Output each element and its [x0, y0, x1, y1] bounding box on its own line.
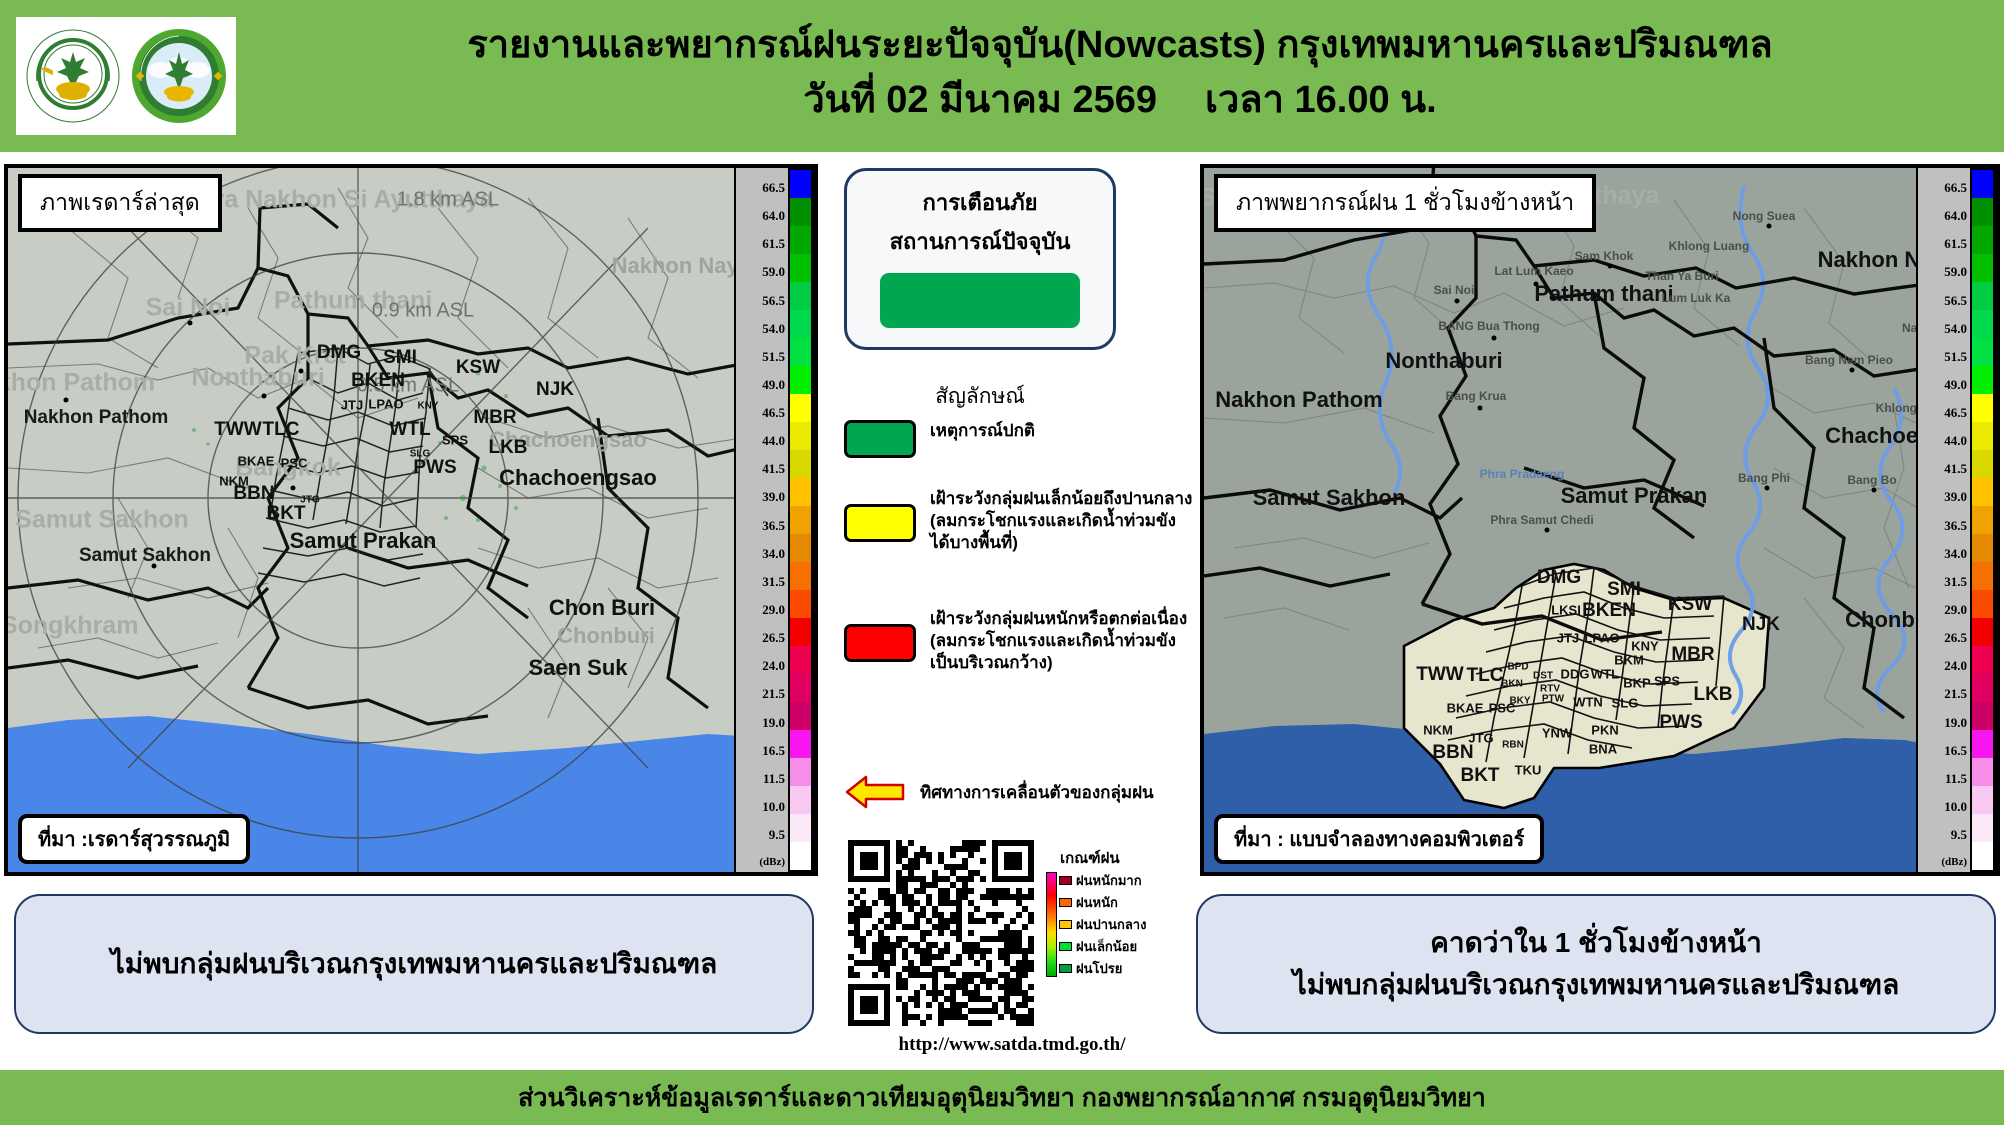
- colorbar-tick: 34.0: [1944, 546, 1967, 562]
- colorbar-tick: 16.5: [1944, 743, 1967, 759]
- colorbar-tick: 24.0: [1944, 658, 1967, 674]
- colorbar-tick: 16.5: [762, 743, 785, 759]
- radar-colorbar-strip: [788, 168, 814, 872]
- rain-scale-label: ฝนเล็กน้อย: [1076, 940, 1137, 953]
- radar-map-graphics: [8, 168, 818, 872]
- colorbar-segment: [1972, 170, 1993, 198]
- footer-text: ส่วนวิเคราะห์ข้อมูลเรดาร์และดาวเทียมอุตุ…: [518, 1078, 1486, 1118]
- legend-label-moderate: เฝ้าระวังกลุ่มฝนเล็กน้อยถึงปานกลาง (ลมกร…: [930, 488, 1192, 553]
- forecast-panel-source: ที่มา : แบบจำลองทางคอมพิวเตอร์: [1214, 814, 1544, 864]
- colorbar-tick: 39.0: [762, 489, 785, 505]
- colorbar-unit: (dBz): [1941, 856, 1967, 868]
- colorbar-tick: 26.5: [762, 630, 785, 646]
- legend-item-direction: ทิศทางการเคลื่อนตัวของกลุ่มฝน: [844, 774, 1154, 810]
- colorbar-tick: 64.0: [1944, 208, 1967, 224]
- colorbar-tick: 66.5: [1944, 180, 1967, 196]
- colorbar-segment: [790, 730, 811, 758]
- colorbar-tick: 56.5: [1944, 293, 1967, 309]
- colorbar-tick: 61.5: [762, 236, 785, 252]
- legend-label-direction: ทิศทางการเคลื่อนตัวของกลุ่มฝน: [920, 779, 1154, 806]
- colorbar-segment: [1972, 226, 1993, 254]
- colorbar-segment: [790, 814, 811, 842]
- colorbar-tick: 19.0: [762, 715, 785, 731]
- colorbar-segment: [1972, 814, 1993, 842]
- legend-swatch-green: [844, 420, 916, 458]
- colorbar-segment: [790, 254, 811, 282]
- rain-scale-label: ฝนหนัก: [1076, 896, 1118, 909]
- radar-colorbar-labels: 66.564.061.559.056.554.051.549.046.544.0…: [736, 168, 788, 872]
- colorbar-tick: 41.5: [762, 461, 785, 477]
- colorbar-segment: [790, 450, 811, 478]
- colorbar-unit: (dBz): [759, 856, 785, 868]
- rain-scale-chip: [1059, 942, 1072, 951]
- left-arrow-icon: [844, 774, 906, 810]
- rain-scale-item: ฝนเล็กน้อย: [1059, 940, 1146, 953]
- colorbar-segment: [790, 282, 811, 310]
- forecast-colorbar-strip: [1970, 168, 1996, 872]
- colorbar-tick: 31.5: [1944, 574, 1967, 590]
- colorbar-tick: 64.0: [762, 208, 785, 224]
- colorbar-tick: 26.5: [1944, 630, 1967, 646]
- colorbar-tick: 41.5: [1944, 461, 1967, 477]
- thai-meteorological-department-seal: [129, 26, 229, 126]
- colorbar-tick: 54.0: [762, 321, 785, 337]
- colorbar-segment: [1972, 450, 1993, 478]
- colorbar-tick: 10.0: [762, 799, 785, 815]
- colorbar-tick: 49.0: [1944, 377, 1967, 393]
- colorbar-segment: [790, 646, 811, 674]
- colorbar-tick: 46.5: [762, 405, 785, 421]
- colorbar-segment: [1972, 506, 1993, 534]
- colorbar-tick: 56.5: [762, 293, 785, 309]
- colorbar-segment: [1972, 562, 1993, 590]
- colorbar-segment: [790, 198, 811, 226]
- rain-scale-title: เกณฑ์ฝน: [1060, 846, 1186, 870]
- colorbar-segment: [1972, 702, 1993, 730]
- colorbar-tick: 21.5: [762, 686, 785, 702]
- radar-panel-source: ที่มา :เรดาร์สุวรรณภูมิ: [18, 814, 250, 864]
- colorbar-tick: 44.0: [762, 433, 785, 449]
- warning-status-indicator: [880, 273, 1080, 328]
- rain-scale-chip: [1059, 898, 1072, 907]
- legend-label-heavy: เฝ้าระวังกลุ่มฝนหนักหรือตกต่อเนื่อง (ลมก…: [930, 608, 1187, 673]
- colorbar-tick: 19.0: [1944, 715, 1967, 731]
- warning-status-card: การเตือนภัย สถานการณ์ปัจจุบัน: [844, 168, 1116, 350]
- colorbar-tick: 10.0: [1944, 799, 1967, 815]
- forecast-map-canvas[interactable]: Suphan Buri Phra Nakhon Si Ayutthaya Non…: [1204, 168, 1996, 872]
- colorbar-segment: [790, 422, 811, 450]
- colorbar-tick: 9.5: [769, 827, 785, 843]
- colorbar-tick: 11.5: [1945, 771, 1967, 787]
- current-summary-box: ไม่พบกลุ่มฝนบริเวณกรุงเทพมหานครและปริมณฑ…: [14, 894, 814, 1034]
- rain-scale-label: ฝนโปรย: [1076, 962, 1122, 975]
- rain-scale-label: ฝนหนักมาก: [1076, 874, 1142, 887]
- forecast-summary-line2: ไม่พบกลุ่มฝนบริเวณกรุงเทพมหานครและปริมณฑ…: [1293, 964, 1900, 1006]
- colorbar-tick: 59.0: [762, 264, 785, 280]
- colorbar-tick: 39.0: [1944, 489, 1967, 505]
- legend-item-normal: เหตุการณ์ปกติ: [844, 420, 1035, 458]
- colorbar-segment: [1972, 674, 1993, 702]
- colorbar-tick: 59.0: [1944, 264, 1967, 280]
- colorbar-tick: 21.5: [1944, 686, 1967, 702]
- colorbar-tick: 51.5: [762, 349, 785, 365]
- colorbar-segment: [1972, 310, 1993, 338]
- colorbar-segment: [790, 758, 811, 786]
- rain-scale-chip: [1059, 920, 1072, 929]
- radar-map-canvas[interactable]: Suphan Buri Phra Nakhon Si Ayutthaya Nak…: [8, 168, 814, 872]
- colorbar-segment: [790, 618, 811, 646]
- colorbar-segment: [1972, 198, 1993, 226]
- colorbar-segment: [790, 674, 811, 702]
- colorbar-tick: 29.0: [1944, 602, 1967, 618]
- warning-title-line2: สถานการณ์ปัจจุบัน: [847, 224, 1113, 259]
- legend-label-normal: เหตุการณ์ปกติ: [930, 420, 1035, 442]
- rain-scale-chip: [1059, 964, 1072, 973]
- rain-scale-item: ฝนโปรย: [1059, 962, 1146, 975]
- current-summary-text: ไม่พบกลุ่มฝนบริเวณกรุงเทพมหานครและปริมณฑ…: [111, 943, 718, 985]
- website-url[interactable]: http://www.satda.tmd.go.th/: [840, 1034, 1184, 1056]
- royal-irrigation-seal: [23, 26, 123, 126]
- legend-column: การเตือนภัย สถานการณ์ปัจจุบัน สัญลักษณ์ …: [830, 152, 1194, 1070]
- colorbar-segment: [1972, 646, 1993, 674]
- colorbar-tick: 36.5: [762, 518, 785, 534]
- colorbar-tick: 66.5: [762, 180, 785, 196]
- colorbar-segment: [1972, 842, 1993, 870]
- forecast-map-graphics: [1204, 168, 2000, 872]
- qr-block: เกณฑ์ฝน ฝนหนักมากฝนหนักฝนปานกลางฝนเล็กน้…: [848, 840, 1178, 1026]
- qr-code[interactable]: [848, 840, 1034, 1026]
- logo-box: [16, 17, 236, 135]
- warning-title-line1: การเตือนภัย: [847, 185, 1113, 220]
- colorbar-segment: [790, 842, 811, 870]
- page-header: รายงานและพยากรณ์ฝนระยะปัจจุบัน(Nowcasts)…: [0, 0, 2004, 152]
- report-time: เวลา 16.00 น.: [1205, 79, 1437, 121]
- colorbar-segment: [790, 562, 811, 590]
- colorbar-tick: 9.5: [1951, 827, 1967, 843]
- rain-scale-item: ฝนหนักมาก: [1059, 874, 1146, 887]
- colorbar-segment: [790, 534, 811, 562]
- colorbar-segment: [790, 394, 811, 422]
- colorbar-tick: 31.5: [762, 574, 785, 590]
- colorbar-segment: [1972, 254, 1993, 282]
- legend-swatch-yellow: [844, 504, 916, 542]
- colorbar-segment: [1972, 422, 1993, 450]
- forecast-colorbar-labels: 66.564.061.559.056.554.051.549.046.544.0…: [1918, 168, 1970, 872]
- forecast-dbz-colorbar: 66.564.061.559.056.554.051.549.046.544.0…: [1916, 168, 1996, 872]
- colorbar-segment: [1972, 590, 1993, 618]
- colorbar-tick: 29.0: [762, 602, 785, 618]
- forecast-summary-box: คาดว่าใน 1 ชั่วโมงข้างหน้า ไม่พบกลุ่มฝนบ…: [1196, 894, 1996, 1034]
- rain-scale-label: ฝนปานกลาง: [1076, 918, 1146, 931]
- forecast-summary-line1: คาดว่าใน 1 ชั่วโมงข้างหน้า: [1430, 922, 1762, 964]
- colorbar-segment: [790, 478, 811, 506]
- colorbar-segment: [1972, 534, 1993, 562]
- colorbar-segment: [1972, 478, 1993, 506]
- colorbar-segment: [790, 338, 811, 366]
- forecast-panel-caption: ภาพพยากรณ์ฝน 1 ชั่วโมงข้างหน้า: [1214, 174, 1596, 232]
- colorbar-tick: 36.5: [1944, 518, 1967, 534]
- main-content: Suphan Buri Phra Nakhon Si Ayutthaya Nak…: [0, 152, 2004, 1070]
- colorbar-tick: 24.0: [762, 658, 785, 674]
- colorbar-segment: [1972, 366, 1993, 394]
- rain-scale-items: ฝนหนักมากฝนหนักฝนปานกลางฝนเล็กน้อยฝนโปรย: [1059, 872, 1146, 977]
- colorbar-segment: [790, 506, 811, 534]
- colorbar-segment: [790, 702, 811, 730]
- colorbar-segment: [790, 226, 811, 254]
- colorbar-segment: [790, 366, 811, 394]
- colorbar-segment: [1972, 394, 1993, 422]
- colorbar-tick: 44.0: [1944, 433, 1967, 449]
- report-date: วันที่ 02 มีนาคม 2569: [803, 79, 1157, 121]
- rain-scale-gradient-bar: [1046, 872, 1057, 977]
- colorbar-segment: [1972, 730, 1993, 758]
- colorbar-segment: [1972, 618, 1993, 646]
- colorbar-tick: 11.5: [763, 771, 785, 787]
- colorbar-segment: [790, 590, 811, 618]
- colorbar-tick: 49.0: [762, 377, 785, 393]
- legend-item-heavy: เฝ้าระวังกลุ่มฝนหนักหรือตกต่อเนื่อง (ลมก…: [844, 624, 1187, 673]
- colorbar-segment: [790, 786, 811, 814]
- colorbar-segment: [1972, 338, 1993, 366]
- colorbar-segment: [1972, 758, 1993, 786]
- page-footer: ส่วนวิเคราะห์ข้อมูลเรดาร์และดาวเทียมอุตุ…: [0, 1070, 2004, 1125]
- radar-dbz-colorbar: 66.564.061.559.056.554.051.549.046.544.0…: [734, 168, 814, 872]
- colorbar-tick: 46.5: [1944, 405, 1967, 421]
- colorbar-segment: [790, 170, 811, 198]
- colorbar-tick: 54.0: [1944, 321, 1967, 337]
- forecast-map-panel[interactable]: Suphan Buri Phra Nakhon Si Ayutthaya Non…: [1200, 164, 2000, 876]
- report-datetime: วันที่ 02 มีนาคม 2569เวลา 16.00 น.: [250, 76, 1990, 125]
- colorbar-segment: [790, 310, 811, 338]
- page-title: รายงานและพยากรณ์ฝนระยะปัจจุบัน(Nowcasts)…: [250, 22, 1990, 70]
- radar-map-panel[interactable]: Suphan Buri Phra Nakhon Si Ayutthaya Nak…: [4, 164, 818, 876]
- radar-panel-caption: ภาพเรดาร์ล่าสุด: [18, 174, 222, 232]
- colorbar-tick: 51.5: [1944, 349, 1967, 365]
- rain-intensity-scale: เกณฑ์ฝน ฝนหนักมากฝนหนักฝนปานกลางฝนเล็กน้…: [1046, 846, 1186, 977]
- rain-scale-item: ฝนหนัก: [1059, 896, 1146, 909]
- colorbar-tick: 34.0: [762, 546, 785, 562]
- rain-scale-item: ฝนปานกลาง: [1059, 918, 1146, 931]
- rain-scale-chip: [1059, 876, 1072, 885]
- colorbar-segment: [1972, 786, 1993, 814]
- colorbar-tick: 61.5: [1944, 236, 1967, 252]
- colorbar-segment: [1972, 282, 1993, 310]
- legend-item-moderate: เฝ้าระวังกลุ่มฝนเล็กน้อยถึงปานกลาง (ลมกร…: [844, 504, 1192, 553]
- legend-swatch-red: [844, 624, 916, 662]
- legend-title: สัญลักษณ์: [844, 380, 1116, 413]
